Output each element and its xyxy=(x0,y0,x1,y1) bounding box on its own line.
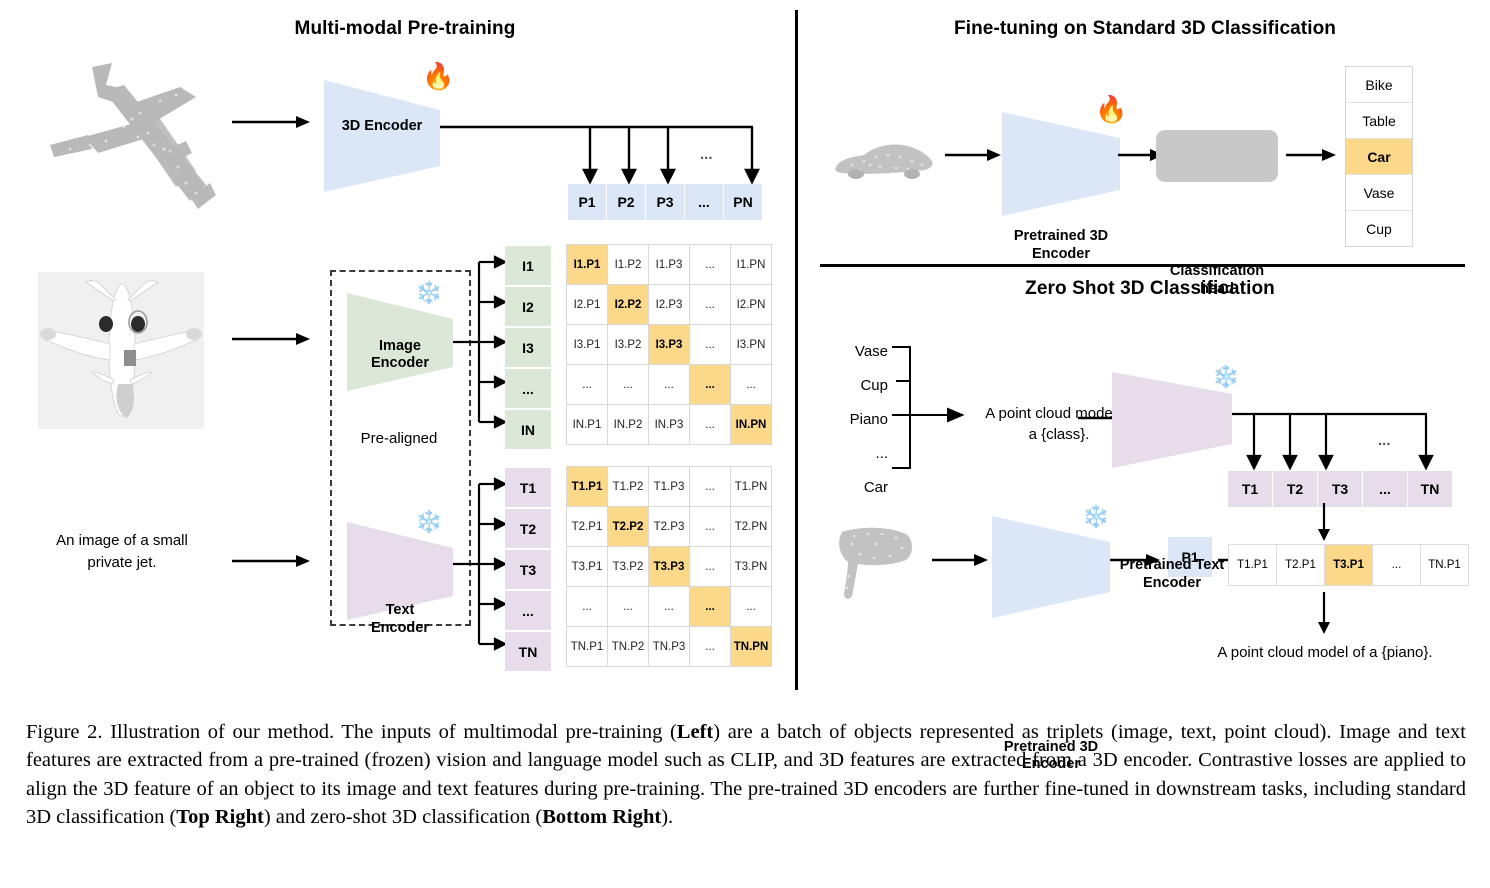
image-matrix-cell-0-3: ... xyxy=(690,245,730,284)
image-matrix-cell-0-2: I1.P3 xyxy=(649,245,689,284)
image-matrix-cell-3-0: ... xyxy=(567,365,607,404)
zeroshot-score-cell-1: T2.P1 xyxy=(1277,545,1324,585)
image-token-4: IN xyxy=(505,410,551,449)
text-matrix-cell-3-2: ... xyxy=(649,587,689,626)
image-matrix-cell-0-4: I1.PN xyxy=(731,245,771,284)
image-matrix-cell-0-0: I1.P1 xyxy=(567,245,607,284)
zeroshot-text-token-3: ... xyxy=(1363,471,1408,507)
image-matrix-cell-4-2: IN.P3 xyxy=(649,405,689,444)
snowflake-icon-text-encoder-zeroshot: ❄️ xyxy=(1212,366,1239,388)
arrow-piano-to-pretrained-3d-encoder xyxy=(932,551,990,569)
point-token-0: P1 xyxy=(568,184,607,220)
image-token-1: I2 xyxy=(505,287,551,328)
text-matrix-cell-4-0: TN.P1 xyxy=(567,627,607,666)
image-encoder-label: Image Encoder xyxy=(345,338,455,373)
image-matrix-cell-1-4: I2.PN xyxy=(731,285,771,324)
text-token-3: ... xyxy=(505,591,551,632)
piano-point-cloud xyxy=(830,520,926,606)
text-matrix-cell-3-4: ... xyxy=(731,587,771,626)
snowflake-icon-image-encoder: ❄️ xyxy=(415,282,442,304)
image-token-2: I3 xyxy=(505,328,551,369)
text-matrix-cell-1-4: T2.PN xyxy=(731,507,771,546)
pretrained-text-encoder-label: Pretrained Text Encoder xyxy=(1110,557,1234,592)
text-matrix-cell-3-0: ... xyxy=(567,587,607,626)
vertical-panel-divider xyxy=(795,10,798,690)
text-matrix-cell-0-3: ... xyxy=(690,467,730,506)
encoder-3d-shape xyxy=(322,78,442,194)
zeroshot-text-token-1: T2 xyxy=(1273,471,1318,507)
image-token-fanout-arrows xyxy=(453,256,509,428)
caption-part-4: ). xyxy=(661,806,673,828)
image-token-3: ... xyxy=(505,369,551,410)
rendered-jet-image xyxy=(38,272,204,429)
text-matrix-cell-1-2: T2.P3 xyxy=(649,507,689,546)
pretrained-3d-encoder-label-zeroshot: Pretrained 3D Encoder xyxy=(990,739,1112,774)
point-token-row: P1P2P3...PN xyxy=(568,184,762,220)
prealigned-label: Pre-aligned xyxy=(341,430,457,447)
image-matrix-cell-3-2: ... xyxy=(649,365,689,404)
image-matrix-cell-1-1: I2.P2 xyxy=(608,285,648,324)
text-token-2: T3 xyxy=(505,550,551,591)
class-item-bike: Bike xyxy=(1346,67,1412,103)
snowflake-icon-text-encoder: ❄️ xyxy=(415,511,442,533)
text-matrix-cell-1-0: T2.P1 xyxy=(567,507,607,546)
text-matrix-cell-2-4: T3.PN xyxy=(731,547,771,586)
image-matrix-cell-1-2: I2.P3 xyxy=(649,285,689,324)
text-matrix-cell-4-1: TN.P2 xyxy=(608,627,648,666)
zeroshot-class-2: Piano xyxy=(826,402,888,436)
text-encoder-label: Text Encoder xyxy=(345,602,455,637)
text-matrix-cell-2-1: T3.P2 xyxy=(608,547,648,586)
arrow-pointcloud-to-3d-encoder xyxy=(232,113,312,131)
zeroshot-score-cell-4: TN.P1 xyxy=(1421,545,1468,585)
zeroshot-class-bracket xyxy=(890,340,972,475)
text-matrix-cell-0-0: T1.P1 xyxy=(567,467,607,506)
class-item-cup: Cup xyxy=(1346,211,1412,246)
zeroshot-token-ellipsis: ... xyxy=(1378,432,1391,449)
zeroshot-text-token-2: T3 xyxy=(1318,471,1363,507)
arrow-text-to-text-encoder xyxy=(232,552,312,570)
pretrained-3d-encoder-shape-finetune xyxy=(1000,110,1122,218)
text-token-4: TN xyxy=(505,632,551,671)
arrow-image-to-image-encoder xyxy=(232,330,312,348)
topright-panel-title: Fine-tuning on Standard 3D Classificatio… xyxy=(895,18,1395,40)
image-matrix-cell-3-1: ... xyxy=(608,365,648,404)
image-matrix-cell-2-0: I3.P1 xyxy=(567,325,607,364)
image-matrix-cell-4-4: IN.PN xyxy=(731,405,771,444)
text-token-fanout-arrows xyxy=(453,478,509,650)
airplane-point-cloud xyxy=(20,45,250,235)
pretrained-3d-encoder-shape-zeroshot xyxy=(990,514,1112,620)
text-matrix-cell-4-2: TN.P3 xyxy=(649,627,689,666)
figure-caption: Figure 2. Illustration of our method. Th… xyxy=(26,718,1466,831)
point-token-2: P3 xyxy=(646,184,685,220)
image-matrix-cell-1-3: ... xyxy=(690,285,730,324)
bottomright-panel-title: Zero Shot 3D Classification xyxy=(920,278,1380,300)
text-matrix-cell-3-1: ... xyxy=(608,587,648,626)
caption-part-3: ) and zero-shot 3D classification ( xyxy=(264,806,542,828)
point-token-1: P2 xyxy=(607,184,646,220)
text-matrix-cell-0-2: T1.P3 xyxy=(649,467,689,506)
arrow-car-to-pretrained-encoder xyxy=(945,146,1003,164)
fire-icon: 🔥 xyxy=(422,63,454,89)
text-matrix-cell-4-3: ... xyxy=(690,627,730,666)
caption-bold-bottomright: Bottom Right xyxy=(542,806,661,828)
caption-bold-topright: Top Right xyxy=(176,806,264,828)
image-matrix-cell-4-0: IN.P1 xyxy=(567,405,607,444)
zeroshot-text-token-row: T1T2T3...TN xyxy=(1228,471,1452,507)
pretrained-3d-encoder-label-finetune: Pretrained 3D Encoder xyxy=(1000,228,1122,263)
text-matrix-cell-2-2: T3.P3 xyxy=(649,547,689,586)
zeroshot-text-token-4: TN xyxy=(1408,471,1452,507)
point-token-3: ... xyxy=(685,184,724,220)
zeroshot-score-cell-0: T1.P1 xyxy=(1229,545,1276,585)
image-matrix-cell-4-1: IN.P2 xyxy=(608,405,648,444)
image-matrix-cell-2-2: I3.P3 xyxy=(649,325,689,364)
class-item-table: Table xyxy=(1346,103,1412,139)
zeroshot-score-row: T1.P1T2.P1T3.P1...TN.P1 xyxy=(1228,544,1469,586)
arrow-score-to-result xyxy=(1316,592,1332,636)
zeroshot-score-cell-3: ... xyxy=(1373,545,1420,585)
classification-class-list: BikeTableCarVaseCup xyxy=(1345,66,1413,247)
text-point-similarity-matrix: T1.P1T1.P2T1.P3...T1.PNT2.P1T2.P2T2.P3..… xyxy=(566,466,772,667)
image-matrix-cell-3-4: ... xyxy=(731,365,771,404)
zeroshot-class-4: Car xyxy=(826,470,888,504)
caption-part-1: Figure 2. Illustration of our method. Th… xyxy=(26,721,677,743)
image-token-0: I1 xyxy=(505,246,551,287)
image-matrix-cell-3-3: ... xyxy=(690,365,730,404)
image-matrix-cell-2-3: ... xyxy=(690,325,730,364)
zeroshot-class-name-list: VaseCupPiano...Car xyxy=(826,334,888,504)
arrow-t3-down-to-score xyxy=(1316,503,1332,543)
caption-bold-left: Left xyxy=(677,721,713,743)
encoder-3d-label: 3D Encoder xyxy=(322,118,442,136)
point-token-fanout-arrows xyxy=(440,118,770,188)
class-item-car: Car xyxy=(1346,139,1412,175)
image-matrix-cell-0-1: I1.P2 xyxy=(608,245,648,284)
text-token-0: T1 xyxy=(505,468,551,509)
zeroshot-class-1: Cup xyxy=(826,368,888,402)
class-item-vase: Vase xyxy=(1346,175,1412,211)
zeroshot-class-0: Vase xyxy=(826,334,888,368)
point-token-ellipsis: ... xyxy=(700,146,713,163)
image-token-column: I1I2I3...IN xyxy=(505,246,551,449)
zeroshot-result-text: A point cloud model of a {piano}. xyxy=(1170,644,1480,661)
text-matrix-cell-0-4: T1.PN xyxy=(731,467,771,506)
fire-icon-finetune: 🔥 xyxy=(1095,96,1127,122)
image-matrix-cell-2-1: I3.P2 xyxy=(608,325,648,364)
classification-head-label: Classification head xyxy=(1156,263,1278,298)
horizontal-panel-divider xyxy=(820,264,1465,267)
text-token-1: T2 xyxy=(505,509,551,550)
image-point-similarity-matrix: I1.P1I1.P2I1.P3...I1.PNI2.P1I2.P2I2.P3..… xyxy=(566,244,772,445)
text-matrix-cell-2-0: T3.P1 xyxy=(567,547,607,586)
image-matrix-cell-4-3: ... xyxy=(690,405,730,444)
text-matrix-cell-1-3: ... xyxy=(690,507,730,546)
left-panel-title: Multi-modal Pre-training xyxy=(240,18,570,40)
text-token-column: T1T2T3...TN xyxy=(505,468,551,671)
text-matrix-cell-3-3: ... xyxy=(690,587,730,626)
text-matrix-cell-4-4: TN.PN xyxy=(731,627,771,666)
text-matrix-cell-1-1: T2.P2 xyxy=(608,507,648,546)
car-point-cloud xyxy=(830,135,940,185)
classification-head-box xyxy=(1156,130,1278,182)
arrow-head-to-classes xyxy=(1286,146,1338,164)
image-matrix-cell-1-0: I2.P1 xyxy=(567,285,607,324)
point-token-4: PN xyxy=(724,184,762,220)
snowflake-icon-3d-encoder-zeroshot: ❄️ xyxy=(1082,506,1109,528)
zeroshot-score-cell-2: T3.P1 xyxy=(1325,545,1372,585)
zeroshot-text-token-0: T1 xyxy=(1228,471,1273,507)
text-matrix-cell-0-1: T1.P2 xyxy=(608,467,648,506)
image-matrix-cell-2-4: I3.PN xyxy=(731,325,771,364)
text-matrix-cell-2-3: ... xyxy=(690,547,730,586)
zeroshot-text-token-fanout-arrows xyxy=(1232,406,1444,472)
text-input-caption: An image of a small private jet. xyxy=(28,530,216,574)
zeroshot-class-3: ... xyxy=(826,436,888,470)
